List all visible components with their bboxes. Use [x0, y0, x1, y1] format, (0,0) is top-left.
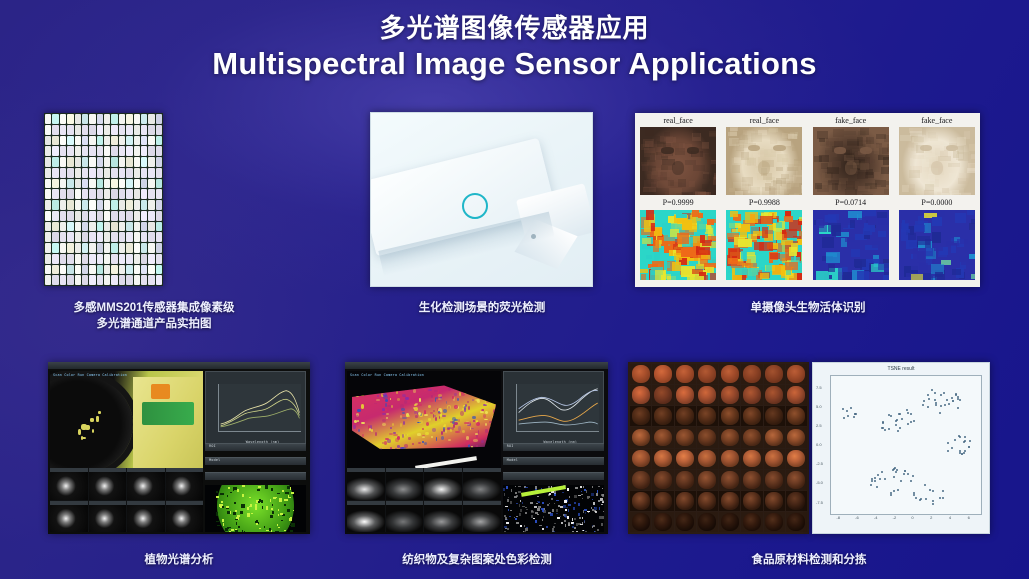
classification-pixel	[542, 528, 544, 530]
mosaic-filter-cell	[67, 179, 73, 189]
classification-pixel	[596, 493, 598, 496]
mosaic-filter-cell	[119, 200, 125, 210]
fabric-pixel	[369, 428, 371, 431]
software-collapsed-panel[interactable]	[503, 443, 604, 451]
classification-pixel	[524, 531, 526, 532]
fabric-pixel	[357, 420, 359, 422]
mosaic-filter-cell	[156, 179, 162, 189]
scatter-point	[923, 400, 925, 402]
classification-pixel	[531, 515, 534, 518]
channel-thumbnail[interactable]	[166, 468, 204, 500]
channel-thumbnail[interactable]	[386, 501, 424, 533]
classification-pixel	[507, 528, 509, 530]
face-photo	[640, 127, 716, 195]
face-pixel-block	[967, 168, 974, 173]
scatter-point	[957, 407, 959, 409]
mosaic-filter-cell	[148, 168, 154, 178]
mosaic-filter-cell	[104, 211, 110, 221]
food-sample	[698, 450, 716, 468]
mosaic-filter-cell	[82, 157, 88, 167]
face-pixel-block	[798, 157, 802, 163]
food-sample	[698, 471, 716, 489]
scatter-point	[951, 447, 953, 449]
fabric-pixel	[405, 397, 409, 400]
food-sample-cell	[675, 470, 696, 490]
classification-pixel	[568, 504, 570, 506]
fabric-pixel	[438, 398, 442, 400]
scatter-point	[893, 476, 895, 478]
face-pixel-block	[834, 141, 843, 148]
mosaic-filter-cell	[89, 265, 95, 275]
caption-plant-spectral: 植物光谱分析	[49, 552, 309, 568]
face-pixel-block	[915, 188, 922, 194]
mosaic-filter-cell	[126, 168, 132, 178]
classification-pixel	[572, 518, 574, 520]
heatmap-block	[878, 231, 886, 237]
scatter-point	[877, 474, 879, 476]
food-sample	[787, 450, 805, 468]
classification-pixel	[223, 523, 224, 526]
face-pixel-block	[788, 164, 799, 171]
face-pixel-block	[802, 130, 803, 136]
face-pixel-block	[705, 154, 715, 161]
mosaic-filter-cell	[111, 157, 117, 167]
mosaic-filter-cell	[89, 232, 95, 242]
face-pixel-block	[910, 158, 916, 166]
mosaic-filter-cell	[89, 211, 95, 221]
channel-thumbnail[interactable]	[89, 501, 127, 533]
mosaic-filter-cell	[104, 114, 110, 124]
software-collapsed-panel[interactable]	[205, 443, 306, 451]
mosaic-filter-cell	[97, 189, 103, 199]
scatter-point	[893, 490, 895, 492]
mosaic-filter-cell	[82, 200, 88, 210]
face-pixel-block	[886, 181, 888, 185]
fabric-pixel	[403, 421, 405, 425]
face-eye	[687, 147, 699, 154]
fabric-pixel	[483, 414, 486, 418]
classification-pixel	[519, 504, 520, 507]
mosaic-filter-cell	[45, 254, 51, 264]
fabric-pixel	[386, 413, 389, 415]
scatter-point	[946, 399, 948, 401]
classification-pixel	[256, 520, 258, 523]
classification-pixel	[584, 489, 586, 491]
spectrograph-plot	[516, 384, 599, 433]
thumbnail-image	[463, 472, 501, 500]
fabric-pixel	[441, 436, 444, 440]
mosaic-filter-cell	[148, 157, 154, 167]
classification-pixel	[217, 525, 219, 526]
channel-thumbnail[interactable]	[127, 501, 165, 533]
classification-pixel	[229, 527, 231, 529]
mosaic-filter-cell	[45, 114, 51, 124]
mosaic-filter-cell	[52, 222, 58, 232]
heatmap-block	[653, 240, 659, 252]
fabric-pixel	[430, 400, 434, 402]
fabric-pixel	[417, 433, 421, 435]
slide-root: 多光谱图像传感器应用 Multispectral Image Sensor Ap…	[0, 0, 1029, 579]
fabric-pixel	[413, 389, 416, 393]
face-pixel-block	[950, 190, 959, 195]
food-sample-cell	[719, 406, 740, 426]
food-sample-cell	[719, 364, 740, 384]
mosaic-filter-cell	[60, 189, 66, 199]
food-sample-cell	[786, 364, 807, 384]
mosaic-filter-cell	[119, 114, 125, 124]
channel-thumbnail[interactable]	[463, 468, 501, 500]
mosaic-filter-cell	[141, 114, 147, 124]
caption-line-1: 植物光谱分析	[49, 552, 309, 568]
fabric-pixel	[457, 398, 459, 400]
scatter-point	[897, 489, 899, 491]
fabric-pixel	[473, 420, 475, 422]
mosaic-filter-cell	[89, 168, 95, 178]
mosaic-filter-cell	[111, 189, 117, 199]
mosaic-filter-cell	[126, 157, 132, 167]
heatmap-block	[919, 252, 924, 262]
mosaic-filter-cell	[67, 114, 73, 124]
fabric-pixel	[403, 434, 407, 436]
face-pixel-block	[884, 135, 889, 142]
face-pixel-block	[879, 148, 887, 155]
mosaic-filter-cell	[104, 200, 110, 210]
classification-pixel	[599, 507, 601, 510]
channel-thumbnail[interactable]	[424, 468, 462, 500]
fabric-pixel	[478, 430, 480, 434]
classification-pixel	[266, 506, 268, 509]
mosaic-filter-cell	[111, 114, 117, 124]
classification-pixel	[553, 526, 556, 528]
thumbnail-image	[50, 505, 88, 533]
classification-pixel	[584, 521, 585, 523]
fabric-pixel	[446, 401, 448, 404]
classification-pixel	[546, 526, 549, 528]
heatmap-block	[901, 223, 910, 232]
mosaic-filter-cell	[148, 114, 154, 124]
food-sample-cell	[630, 512, 651, 532]
fabric-pixel	[490, 425, 492, 428]
food-sample	[787, 429, 805, 447]
thumbnail-image	[127, 472, 165, 500]
fabric-pixel	[377, 449, 379, 453]
mosaic-filter-cell	[45, 243, 51, 253]
face-pixel-block	[815, 183, 823, 189]
food-sample-cell	[741, 427, 762, 447]
classification-pixel	[569, 496, 571, 497]
software-menubar[interactable]	[48, 362, 310, 369]
mosaic-filter-cell	[119, 179, 125, 189]
mosaic-filter-cell	[141, 211, 147, 221]
classification-pixel	[221, 501, 224, 503]
mosaic-filter-cell	[119, 168, 125, 178]
face-pixel-block	[786, 183, 795, 189]
fabric-pixel	[419, 420, 423, 424]
classification-pixel	[542, 519, 543, 521]
mosaic-filter-cell	[104, 265, 110, 275]
classification-pixel	[222, 506, 224, 508]
classification-pixel	[543, 510, 546, 512]
classification-pixel	[552, 531, 554, 532]
food-sample-cell	[697, 491, 718, 511]
classification-pixel	[244, 531, 245, 532]
fabric-pixel	[482, 391, 484, 393]
classification-pixel	[537, 501, 539, 503]
channel-thumbnail[interactable]	[424, 501, 462, 533]
seed-sample	[85, 425, 90, 430]
food-sample-cell	[764, 406, 785, 426]
software-menubar[interactable]	[345, 362, 608, 369]
scatter-point	[951, 397, 953, 399]
classification-pixel	[572, 531, 574, 533]
classification-pixel	[506, 522, 509, 524]
food-sample	[743, 513, 761, 531]
mosaic-filter-cell	[134, 222, 140, 232]
fabric-pixel	[382, 387, 386, 390]
channel-thumbnail[interactable]	[347, 501, 385, 533]
face-pixel-block	[884, 189, 889, 194]
food-sample	[654, 492, 672, 510]
heatmap-block	[932, 217, 942, 225]
food-sample	[698, 492, 716, 510]
classification-pixel	[579, 517, 581, 519]
heatmap-block	[692, 210, 699, 216]
face-nose-shadow	[931, 161, 943, 175]
fabric-pixel	[361, 422, 365, 424]
mosaic-filter-cell	[141, 254, 147, 264]
mosaic-filter-cell	[111, 168, 117, 178]
heatmap-block	[828, 223, 841, 232]
channel-thumbnail[interactable]	[347, 468, 385, 500]
mosaic-filter-cell	[82, 275, 88, 285]
software-collapsed-panel[interactable]	[503, 472, 604, 480]
classification-pixel	[284, 530, 286, 532]
face-pixel-block	[695, 192, 706, 195]
mosaic-filter-cell	[82, 254, 88, 264]
face-pixel-block	[858, 186, 871, 192]
mosaic-filter-cell	[60, 168, 66, 178]
face-pixel-block	[826, 183, 835, 192]
classification-pixel	[591, 493, 594, 496]
face-pixel-block	[902, 194, 909, 195]
mosaic-filter-cell	[148, 146, 154, 156]
classification-pixel	[264, 526, 265, 528]
food-sample-cell	[675, 364, 696, 384]
face-pixel-block	[730, 127, 738, 131]
fabric-pixel	[353, 425, 356, 428]
channel-thumbnail[interactable]	[463, 501, 501, 533]
classification-view	[205, 485, 306, 532]
fabric-pixel	[433, 410, 435, 412]
scatter-point	[874, 480, 876, 482]
spectrograph-panel: Wavelength (nm)	[503, 371, 604, 447]
food-sample	[654, 450, 672, 468]
heatmap-block	[704, 263, 716, 267]
classification-pixel	[287, 486, 290, 489]
fabric-pixel	[386, 417, 389, 419]
classification-pixel	[582, 498, 583, 499]
heatmap-block	[969, 223, 975, 230]
mosaic-filter-cell	[104, 146, 110, 156]
channel-thumbnail[interactable]	[89, 468, 127, 500]
food-sample	[765, 513, 783, 531]
scatter-point	[934, 399, 936, 401]
fabric-pixel	[415, 415, 418, 417]
mosaic-filter-cell	[82, 222, 88, 232]
mosaic-filter-cell	[52, 179, 58, 189]
mosaic-filter-cell	[104, 125, 110, 135]
scatter-point	[870, 484, 872, 486]
food-sample	[698, 365, 716, 383]
mosaic-filter-cell	[126, 136, 132, 146]
channel-thumbnail[interactable]	[386, 468, 424, 500]
fabric-pixel	[375, 432, 377, 436]
mosaic-filter-cell	[104, 136, 110, 146]
food-sample-cell	[697, 427, 718, 447]
channel-thumbnail[interactable]	[50, 468, 88, 500]
classification-pixel	[603, 511, 604, 512]
heatmap-block	[877, 212, 887, 217]
channel-thumbnail[interactable]	[166, 501, 204, 533]
classification-pixel	[227, 511, 230, 514]
scatter-point	[874, 477, 876, 479]
heatmap-block	[934, 244, 943, 251]
scatter-x-tick: -6	[855, 515, 859, 520]
food-sample	[743, 386, 761, 404]
heatmap-block	[967, 210, 974, 215]
mosaic-filter-cell	[67, 146, 73, 156]
heatmap-block	[655, 270, 665, 280]
classification-pixel	[291, 492, 294, 494]
panel-sensor-mosaic	[44, 113, 163, 286]
fabric-pixel	[401, 447, 405, 451]
fabric-pixel	[402, 412, 405, 414]
food-sample-cell	[675, 449, 696, 469]
face-pixel-block	[709, 136, 716, 141]
mosaic-filter-cell	[89, 157, 95, 167]
heatmap-block	[951, 245, 957, 253]
channel-thumbnail[interactable]	[127, 468, 165, 500]
classification-pixel	[508, 509, 510, 511]
face-pixel-block	[860, 163, 870, 170]
fabric-pixel	[435, 417, 437, 421]
food-sample-cell	[697, 449, 718, 469]
fabric-pixel	[418, 404, 422, 406]
mosaic-filter-cell	[111, 275, 117, 285]
channel-thumbnails	[347, 468, 501, 533]
mosaic-filter-cell	[141, 179, 147, 189]
food-sample-cell	[764, 449, 785, 469]
face-pixel-block	[782, 158, 789, 166]
mosaic-filter-cell	[156, 254, 162, 264]
mosaic-filter-cell	[45, 200, 51, 210]
fabric-pixel	[385, 403, 388, 407]
scatter-point	[892, 469, 894, 471]
mosaic-filter-cell	[89, 146, 95, 156]
face-pixel-block	[713, 189, 716, 195]
mosaic-filter-cell	[75, 222, 81, 232]
scatter-y-tick: 5.0	[816, 404, 822, 409]
classification-pixel	[535, 486, 537, 489]
mosaic-filter-cell	[141, 125, 147, 135]
classification-pixel	[516, 516, 517, 517]
mosaic-filter-cell	[75, 146, 81, 156]
face-pixel-block	[858, 131, 864, 137]
classification-pixel	[284, 499, 287, 501]
food-sample	[787, 365, 805, 383]
scatter-point	[947, 450, 949, 452]
fabric-pixel	[368, 443, 372, 445]
heatmap-block	[815, 250, 824, 256]
classification-pixel	[541, 508, 544, 510]
mosaic-filter-cell	[119, 211, 125, 221]
classification-pixel	[525, 487, 528, 488]
caption-line-1: 生化检测场景的荧光检测	[352, 300, 612, 316]
classification-pixel	[227, 527, 229, 529]
classification-pixel	[581, 494, 583, 495]
food-sample-cell	[764, 364, 785, 384]
fabric-pixel	[390, 398, 392, 401]
channel-thumbnail[interactable]	[50, 501, 88, 533]
food-sample-cell	[719, 427, 740, 447]
scatter-point	[958, 435, 960, 437]
mosaic-filter-cell	[75, 168, 81, 178]
food-sample-cell	[652, 406, 673, 426]
food-sample	[632, 471, 650, 489]
scatter-point	[944, 404, 946, 406]
scatter-point	[853, 416, 855, 418]
food-sample-cell	[630, 449, 651, 469]
face-pixel-block	[941, 188, 949, 193]
mosaic-filter-cell	[156, 222, 162, 232]
mosaic-filter-cell	[134, 254, 140, 264]
classification-pixel	[228, 487, 230, 489]
food-sample-grid	[630, 364, 807, 532]
classification-pixel	[511, 489, 512, 492]
food-sample	[698, 386, 716, 404]
mosaic-filter-cell	[119, 125, 125, 135]
caption-line-2: 多光谱通道产品实拍图	[24, 316, 284, 332]
classification-pixel	[278, 527, 280, 528]
thumbnail-image	[89, 472, 127, 500]
fabric-pixel	[408, 437, 411, 441]
food-sample-cell	[741, 491, 762, 511]
mosaic-filter-cell	[89, 200, 95, 210]
fabric-pixel	[485, 423, 487, 426]
fabric-pixel	[424, 442, 427, 445]
scatter-x-tick: -4	[874, 515, 878, 520]
software-collapsed-panel[interactable]	[205, 472, 306, 480]
heatmap-block	[759, 242, 772, 251]
scatter-x-tick: -2	[893, 515, 897, 520]
mosaic-filter-cell	[60, 243, 66, 253]
food-sample	[743, 429, 761, 447]
fabric-pixel	[414, 411, 416, 414]
mosaic-filter-cell	[134, 136, 140, 146]
scatter-point	[928, 398, 930, 400]
classification-pixel	[599, 516, 602, 518]
mosaic-filter-cell	[141, 157, 147, 167]
food-sample	[765, 365, 783, 383]
fabric-pixel	[356, 429, 358, 431]
camera-toolbar-text: Scan Color Run Camera Calibration	[53, 373, 127, 377]
mosaic-filter-cell	[126, 232, 132, 242]
scatter-point	[895, 420, 897, 422]
mosaic-filter-cell	[111, 125, 117, 135]
fabric-pixel	[477, 399, 480, 403]
software-collapsed-panel[interactable]	[503, 457, 604, 465]
food-sample-cell	[764, 491, 785, 511]
